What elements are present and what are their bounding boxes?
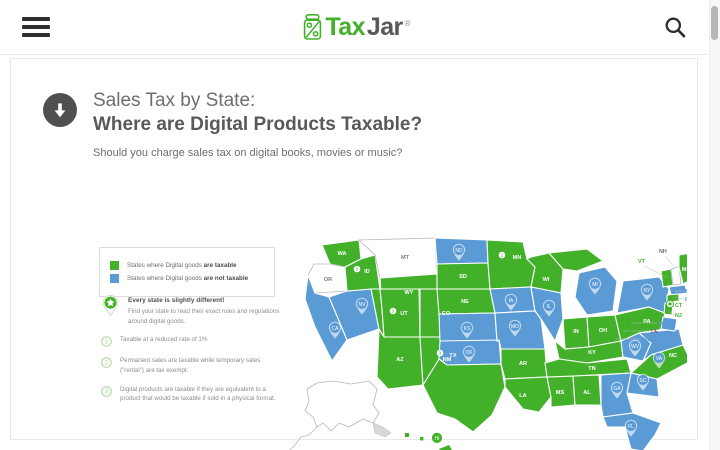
svg-text:OK: OK	[465, 350, 473, 356]
state-MO	[495, 311, 545, 349]
svg-text:1: 1	[105, 339, 109, 346]
label-AZ: AZ	[396, 357, 404, 363]
legend-label-not-taxable: States where Digital goods are not taxab…	[127, 275, 248, 282]
legend-swatch-blue	[110, 274, 119, 283]
label-UT: UT	[400, 311, 408, 317]
note-text: Digital products are taxable if they are…	[120, 386, 275, 403]
svg-text:3: 3	[105, 388, 109, 395]
note-text: Find your state to read their exact rule…	[128, 308, 279, 325]
note-text: Taxable at a reduced rate of 1%	[120, 336, 207, 343]
notes-list: Every state is slightly different! Find …	[101, 296, 281, 413]
page-subtitle: Should you charge sales tax on digital b…	[93, 147, 402, 159]
search-icon[interactable]	[664, 16, 686, 38]
label-OH: OH	[599, 328, 607, 334]
svg-text:IL: IL	[547, 304, 551, 310]
map-pin-star-icon	[101, 294, 120, 316]
page-title-line1: Sales Tax by State:	[93, 89, 422, 113]
callout-DE: DE	[651, 329, 659, 335]
legend-swatch-green	[110, 261, 119, 270]
label-NM: NM	[443, 357, 452, 363]
alaska-inset	[289, 381, 391, 450]
infographic-card: Sales Tax by State: Where are Digital Pr…	[10, 58, 698, 440]
label-WY: WY	[404, 290, 413, 296]
label-WA: WA	[337, 251, 346, 257]
label-SD: SD	[459, 274, 467, 280]
label-PA: PA	[643, 319, 650, 325]
hamburger-bar	[22, 25, 50, 29]
svg-text:VA: VA	[656, 356, 663, 362]
svg-text:MI: MI	[592, 282, 598, 288]
download-arrow-glyph	[52, 102, 68, 119]
vertical-scrollbar[interactable]	[709, 0, 720, 450]
label-ID: ID	[364, 269, 370, 275]
label-AL: AL	[583, 390, 591, 396]
label-ME: ME	[682, 267, 687, 273]
note-every-state: Every state is slightly different! Find …	[101, 296, 281, 326]
numbered-circle-3-icon: 3	[101, 386, 112, 397]
pin-HI[interactable]: HI	[431, 432, 443, 449]
legend-item-not-taxable: States where Digital goods are not taxab…	[110, 274, 264, 283]
note-title: Every state is slightly different!	[128, 296, 281, 306]
label-NE: NE	[461, 299, 469, 305]
footnote-badge-ID: 3	[354, 266, 361, 273]
callout-VT: VT	[638, 259, 646, 265]
headline-block: Sales Tax by State: Where are Digital Pr…	[43, 89, 422, 137]
state-TX	[423, 359, 505, 432]
label-LA: LA	[519, 393, 526, 399]
footnote-badge-UT: 3	[390, 308, 397, 315]
brand-name-tax: Tax	[325, 15, 364, 40]
footnote-badge-TX: 3	[437, 350, 444, 357]
download-arrow-icon[interactable]	[43, 93, 77, 127]
callout-NH: NH	[659, 249, 667, 255]
callout-NJ: NJ	[675, 313, 682, 319]
svg-text:NY: NY	[644, 288, 652, 294]
label-KY: KY	[588, 350, 596, 356]
svg-text:KS: KS	[464, 326, 471, 332]
state-LA	[505, 377, 551, 412]
hamburger-menu-icon[interactable]	[22, 17, 50, 37]
note-body: Digital products are taxable if they are…	[120, 385, 281, 404]
callout-CT: CT	[675, 303, 683, 309]
label-WI: WI	[543, 277, 550, 283]
label-MN: MN	[513, 255, 522, 261]
callout-RI: RI	[685, 297, 687, 303]
scrollbar-thumb[interactable]	[711, 6, 718, 40]
browser-viewport: Tax Jar ® Sales Tax by State: Where are …	[0, 0, 720, 450]
svg-text:MO: MO	[511, 324, 519, 330]
note-text: Permanent sales are taxable while tempor…	[120, 357, 260, 374]
label-NC: NC	[669, 353, 677, 359]
svg-text:HI: HI	[435, 436, 440, 442]
callout-MA: MA	[685, 289, 687, 295]
note-footnote-1: 1 Taxable at a reduced rate of 1%	[101, 335, 281, 347]
numbered-circle-2-icon: 2	[101, 357, 112, 368]
jar-icon	[303, 14, 322, 40]
svg-text:2: 2	[105, 360, 109, 367]
brand-name-jar: Jar	[367, 15, 403, 40]
svg-text:CA: CA	[332, 326, 340, 332]
label-AR: AR	[519, 361, 527, 367]
svg-text:SC: SC	[640, 378, 647, 384]
note-footnote-2: 2 Permanent sales are taxable while temp…	[101, 356, 281, 375]
note-footnote-3: 3 Digital products are taxable if they a…	[101, 385, 281, 404]
map-legend: States where Digital goods are taxable S…	[99, 247, 275, 297]
svg-text:NV: NV	[359, 302, 367, 308]
label-CO: CO	[442, 311, 451, 317]
label-TN: TN	[588, 366, 595, 372]
note-body: Permanent sales are taxable while tempor…	[120, 356, 281, 375]
taxjar-logo[interactable]: Tax Jar ®	[303, 14, 410, 40]
state-MN	[487, 240, 535, 289]
callout-MD: MD	[643, 337, 651, 343]
svg-text:GA: GA	[613, 386, 621, 392]
registered-mark: ®	[405, 19, 411, 28]
pin-CT[interactable]	[666, 300, 673, 307]
svg-text:IA: IA	[509, 298, 514, 304]
svg-text:FL: FL	[628, 424, 634, 430]
note-body: Taxable at a reduced rate of 1%	[120, 335, 207, 347]
label-MS: MS	[556, 390, 565, 396]
label-MT: MT	[401, 255, 410, 261]
hamburger-bar	[22, 33, 50, 37]
svg-text:WV: WV	[631, 344, 640, 350]
label-IN: IN	[573, 329, 579, 335]
note-body: Every state is slightly different! Find …	[128, 296, 281, 326]
numbered-circle-1-icon: 1	[101, 336, 112, 347]
svg-text:ND: ND	[455, 248, 463, 254]
site-header: Tax Jar ®	[0, 0, 708, 55]
footnote-badge-MN: 2	[499, 252, 506, 259]
hamburger-bar	[22, 17, 50, 21]
legend-item-taxable: States where Digital goods are taxable	[110, 261, 264, 270]
callout-DC: DC	[659, 321, 667, 327]
label-OR: OR	[324, 277, 332, 283]
legend-label-taxable: States where Digital goods are taxable	[127, 262, 237, 269]
hawaii-inset	[405, 433, 455, 450]
us-taxability-map[interactable]: WA OR MT ID WY TX AZ NM CO UT SD NE WI M…	[287, 237, 687, 450]
page-title-line2: Where are Digital Products Taxable?	[93, 113, 422, 137]
